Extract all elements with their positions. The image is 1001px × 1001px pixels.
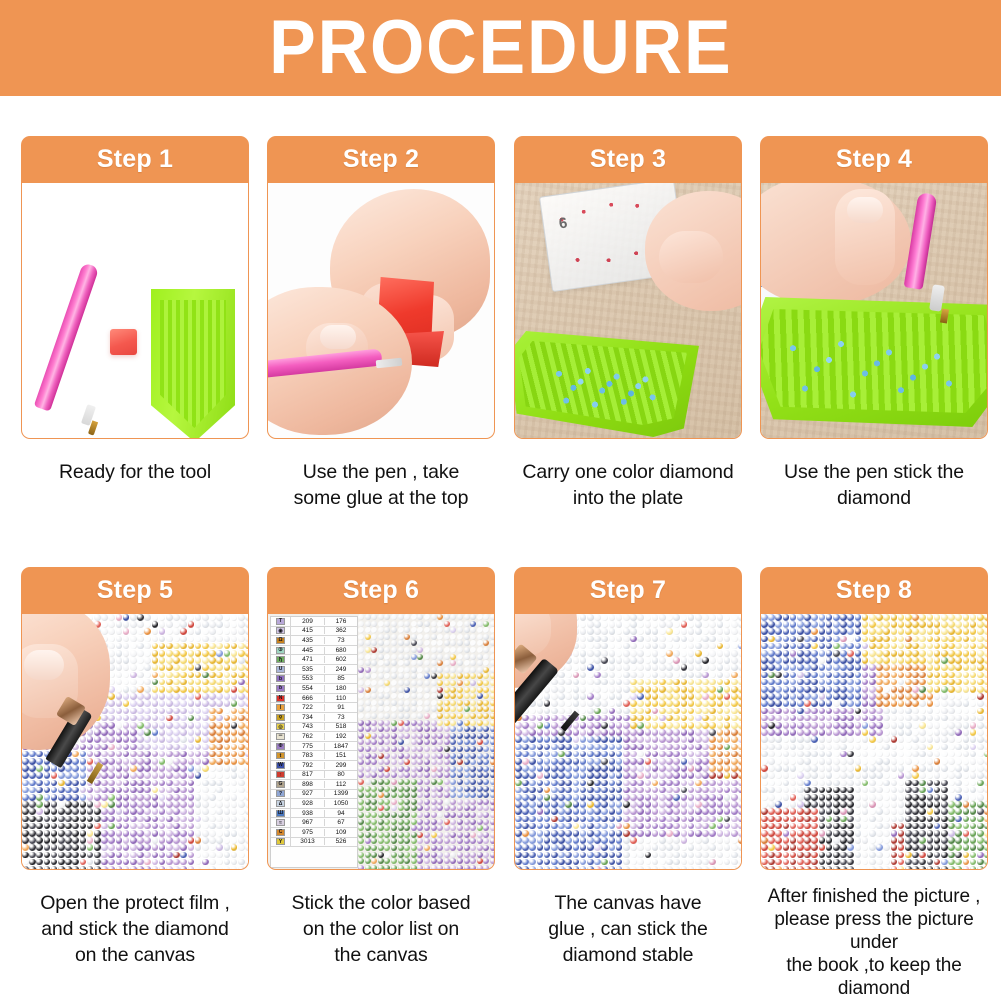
color-chart-symbol: W <box>271 761 291 770</box>
color-chart-dmc: 938 <box>291 810 325 817</box>
color-chart-row: C975109 <box>271 828 357 838</box>
step-card-8: Step 8 After finished the picture ,pleas… <box>760 567 988 1001</box>
color-chart-symbol: t <box>271 751 291 760</box>
step-card-1: Step 1 Ready for the tool <box>21 136 249 485</box>
color-chart-symbol: Φ <box>271 742 291 751</box>
color-chart-count: 109 <box>325 829 357 836</box>
color-chart-dmc: 535 <box>291 666 325 673</box>
color-chart-dmc: 783 <box>291 752 325 759</box>
color-chart-row: Δ9281050 <box>271 799 357 809</box>
step-2-header-label: Step 2 <box>343 145 419 174</box>
color-chart-row: t783151 <box>271 751 357 761</box>
step-3-header: Step 3 <box>514 136 742 183</box>
color-chart-dmc: 209 <box>291 618 325 625</box>
page-banner: PROCEDURE <box>0 0 1001 96</box>
color-chart-count: 192 <box>325 733 357 740</box>
color-chart-count: 85 <box>325 675 357 682</box>
glue-square-icon <box>110 329 137 355</box>
step-1-photo <box>21 183 249 439</box>
color-chart-row: b55385 <box>271 675 357 685</box>
step-card-6: Step 6 T209176◉415362Ω43573③445680ђ47160… <box>267 567 495 968</box>
color-chart-dmc: 3013 <box>291 838 325 845</box>
diamond-mosaic-canvas <box>358 614 494 869</box>
color-chart-symbol: ɓ <box>271 684 291 693</box>
color-chart-symbol: ◎ <box>271 723 291 732</box>
color-chart-row: N666110 <box>271 694 357 704</box>
color-chart-symbol: İ <box>271 703 291 712</box>
color-chart-count: 526 <box>325 838 357 845</box>
fingernail-icon <box>847 197 883 223</box>
color-chart-symbol: T <box>271 617 291 626</box>
color-chart-row: ↑81780 <box>271 771 357 781</box>
color-chart-dmc: 734 <box>291 714 325 721</box>
color-chart-row: G898112 <box>271 780 357 790</box>
color-chart-count: 680 <box>325 647 357 654</box>
step-6-header-label: Step 6 <box>343 576 419 605</box>
finger-icon <box>659 231 723 283</box>
color-chart-dmc: 553 <box>291 675 325 682</box>
color-chart-row: U535249 <box>271 665 357 675</box>
color-chart-dmc: 762 <box>291 733 325 740</box>
color-chart-symbol: Ω <box>271 636 291 645</box>
blue-diamonds-icon <box>773 323 973 407</box>
color-chart-symbol: ↑ <box>271 771 291 780</box>
step-8-header: Step 8 <box>760 567 988 614</box>
step-4-photo <box>760 183 988 439</box>
color-chart-count: 249 <box>325 666 357 673</box>
step-1-caption: Ready for the tool <box>21 459 249 485</box>
step-5-caption: Open the protect film ,and stick the dia… <box>21 890 249 968</box>
color-chart-count: 299 <box>325 762 357 769</box>
color-chart-count: 110 <box>325 695 357 702</box>
step-7-photo <box>514 614 742 870</box>
color-chart-row: ◉415362 <box>271 627 357 637</box>
step-card-3: Step 3 6 Carry one color diamondinto the… <box>514 136 742 511</box>
color-chart-count: 73 <box>325 714 357 721</box>
step-2-photo <box>267 183 495 439</box>
fingernail-icon <box>320 325 356 349</box>
color-chart-symbol: Ш <box>271 809 291 818</box>
color-chart-dmc: 792 <box>291 762 325 769</box>
step-3-caption: Carry one color diamondinto the plate <box>514 459 742 511</box>
color-chart-count: 602 <box>325 656 357 663</box>
pink-pen-icon <box>34 262 100 411</box>
color-chart-dmc: 471 <box>291 656 325 663</box>
color-chart-count: 1399 <box>325 790 357 797</box>
color-chart-row: ɓ554180 <box>271 684 357 694</box>
step-8-header-label: Step 8 <box>836 576 912 605</box>
color-chart-row: İ72291 <box>271 703 357 713</box>
color-chart-row: Ш93894 <box>271 809 357 819</box>
step-6-header: Step 6 <box>267 567 495 614</box>
step-3-header-label: Step 3 <box>590 145 666 174</box>
color-chart-row: ≈96767 <box>271 818 357 828</box>
color-chart-count: 1847 <box>325 743 357 750</box>
color-chart-dmc: 415 <box>291 627 325 634</box>
color-chart-dmc: 817 <box>291 771 325 778</box>
color-chart-row: Ω43573 <box>271 636 357 646</box>
color-chart-dmc: 975 <box>291 829 325 836</box>
color-chart-dmc: 435 <box>291 637 325 644</box>
color-chart-count: 518 <box>325 723 357 730</box>
diamond-mosaic-canvas <box>761 614 987 869</box>
step-6-caption: Stick the color basedon the color list o… <box>267 890 495 968</box>
step-7-header: Step 7 <box>514 567 742 614</box>
step-5-photo <box>21 614 249 870</box>
step-card-4: Step 4 Use the pen stick thediamond <box>760 136 988 511</box>
color-chart-symbol: ? <box>271 790 291 799</box>
color-chart-symbol: ђ <box>271 655 291 664</box>
step-8-photo <box>760 614 988 870</box>
color-chart-symbol: Δ <box>271 799 291 808</box>
step-card-2: Step 2 Use the pen , takesome glue at th… <box>267 136 495 511</box>
color-chart-count: 91 <box>325 704 357 711</box>
step-5-header-label: Step 5 <box>97 576 173 605</box>
color-chart-dmc: 445 <box>291 647 325 654</box>
color-chart-symbol: G <box>271 780 291 789</box>
step-2-header: Step 2 <box>267 136 495 183</box>
color-chart-row: Φ7751847 <box>271 742 357 752</box>
color-chart-dmc: 666 <box>291 695 325 702</box>
color-chart-dmc: 722 <box>291 704 325 711</box>
step-3-photo: 6 <box>514 183 742 439</box>
step-7-caption: The canvas haveglue , can stick thediamo… <box>514 890 742 968</box>
color-chart-dmc: 775 <box>291 743 325 750</box>
color-chart-row: ③445680 <box>271 646 357 656</box>
color-chart-row: ђ471602 <box>271 655 357 665</box>
color-chart-count: 80 <box>325 771 357 778</box>
color-chart-row: W792299 <box>271 761 357 771</box>
color-list-chart: T209176◉415362Ω43573③445680ђ471602U53524… <box>270 616 358 868</box>
step-7-header-label: Step 7 <box>590 576 666 605</box>
step-card-5: Step 5 Open the protect film ,and stick … <box>21 567 249 968</box>
step-4-header: Step 4 <box>760 136 988 183</box>
color-chart-count: 176 <box>325 618 357 625</box>
step-2-caption: Use the pen , takesome glue at the top <box>267 459 495 511</box>
color-chart-row: ═762192 <box>271 732 357 742</box>
color-chart-symbol: ═ <box>271 732 291 741</box>
color-chart-dmc: 743 <box>291 723 325 730</box>
color-chart-row: T209176 <box>271 617 357 627</box>
step-card-7: Step 7 The canvas haveglue , can stick t… <box>514 567 742 968</box>
color-chart-count: 94 <box>325 810 357 817</box>
procedure-infographic: PROCEDURE Step 1 Ready for the tool Step… <box>0 0 1001 1001</box>
step-5-header: Step 5 <box>21 567 249 614</box>
step-8-caption: After finished the picture ,please press… <box>760 885 988 1001</box>
step-6-photo: T209176◉415362Ω43573③445680ђ471602U53524… <box>267 614 495 870</box>
step-4-caption: Use the pen stick thediamond <box>760 459 988 511</box>
color-chart-symbol: U <box>271 665 291 674</box>
color-chart-row: ?9271399 <box>271 790 357 800</box>
step-1-header: Step 1 <box>21 136 249 183</box>
color-chart-count: 1050 <box>325 800 357 807</box>
color-chart-count: 151 <box>325 752 357 759</box>
color-chart-count: 362 <box>325 627 357 634</box>
color-chart-dmc: 927 <box>291 790 325 797</box>
page-title: PROCEDURE <box>269 10 732 86</box>
step-4-header-label: Step 4 <box>836 145 912 174</box>
color-chart-row: Y3013526 <box>271 838 357 848</box>
color-chart-symbol: b <box>271 675 291 684</box>
color-chart-symbol: ③ <box>271 646 291 655</box>
color-chart-symbol: ≈ <box>271 818 291 827</box>
color-chart-row: ◎743518 <box>271 723 357 733</box>
blue-diamonds-icon <box>547 357 667 413</box>
color-chart-count: 67 <box>325 819 357 826</box>
fingernail-icon <box>24 650 64 680</box>
color-chart-count: 73 <box>325 637 357 644</box>
step-1-header-label: Step 1 <box>97 145 173 174</box>
color-chart-dmc: 554 <box>291 685 325 692</box>
color-chart-row: ǫ73473 <box>271 713 357 723</box>
color-chart-dmc: 928 <box>291 800 325 807</box>
color-chart-symbol: ◉ <box>271 627 291 636</box>
color-chart-count: 180 <box>325 685 357 692</box>
color-chart-dmc: 967 <box>291 819 325 826</box>
color-chart-count: 112 <box>325 781 357 788</box>
color-chart-dmc: 898 <box>291 781 325 788</box>
color-chart-symbol: ǫ <box>271 713 291 722</box>
color-chart-symbol: C <box>271 828 291 837</box>
color-chart-symbol: Y <box>271 838 291 847</box>
color-chart-symbol: N <box>271 694 291 703</box>
